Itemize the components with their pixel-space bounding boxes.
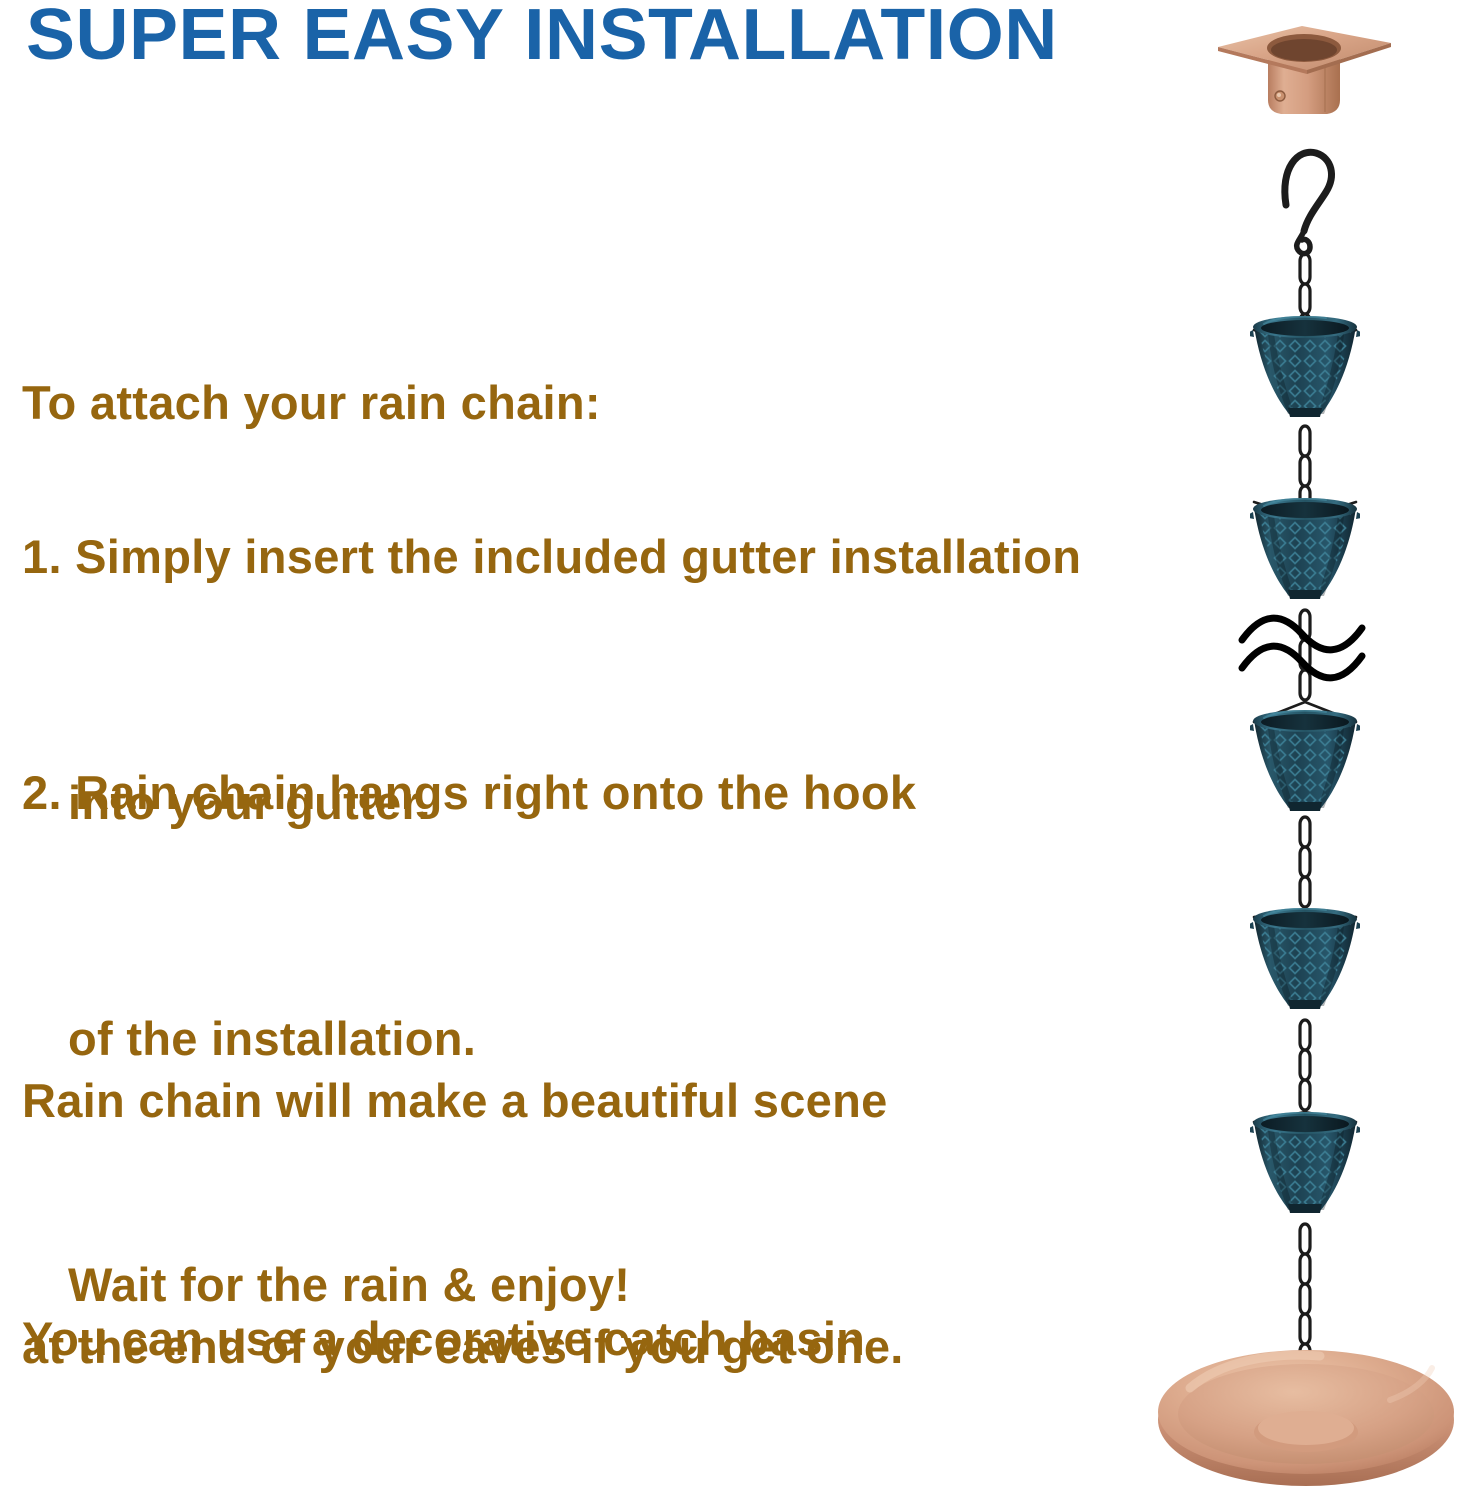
s-hook <box>1285 152 1332 253</box>
instructions-column: SUPER EASY INSTALLATION To attach your r… <box>0 0 1150 1500</box>
catch-basin <box>1158 1350 1454 1486</box>
product-illustration <box>1150 0 1461 1500</box>
cup <box>1244 908 1366 1012</box>
step-two-line-1: 2. Rain chain hangs right onto the hook <box>22 752 916 834</box>
page-title: SUPER EASY INSTALLATION <box>26 0 1058 76</box>
cup <box>1244 710 1366 814</box>
cup <box>1244 498 1366 602</box>
cup <box>1244 316 1366 420</box>
paragraph-basin: You can use a decorative catch basin or … <box>22 1134 957 1500</box>
gutter-installer-bracket <box>1218 26 1391 114</box>
infographic-page: SUPER EASY INSTALLATION To attach your r… <box>0 0 1461 1500</box>
paragraph-basin-line-1: You can use a decorative catch basin <box>22 1298 957 1380</box>
cup <box>1244 1112 1366 1216</box>
step-one-line-1: 1. Simply insert the included gutter ins… <box>22 516 1081 598</box>
paragraph-scene-line-1: Rain chain will make a beautiful scene <box>22 1060 904 1142</box>
rain-chain-graphic <box>1150 0 1461 1500</box>
